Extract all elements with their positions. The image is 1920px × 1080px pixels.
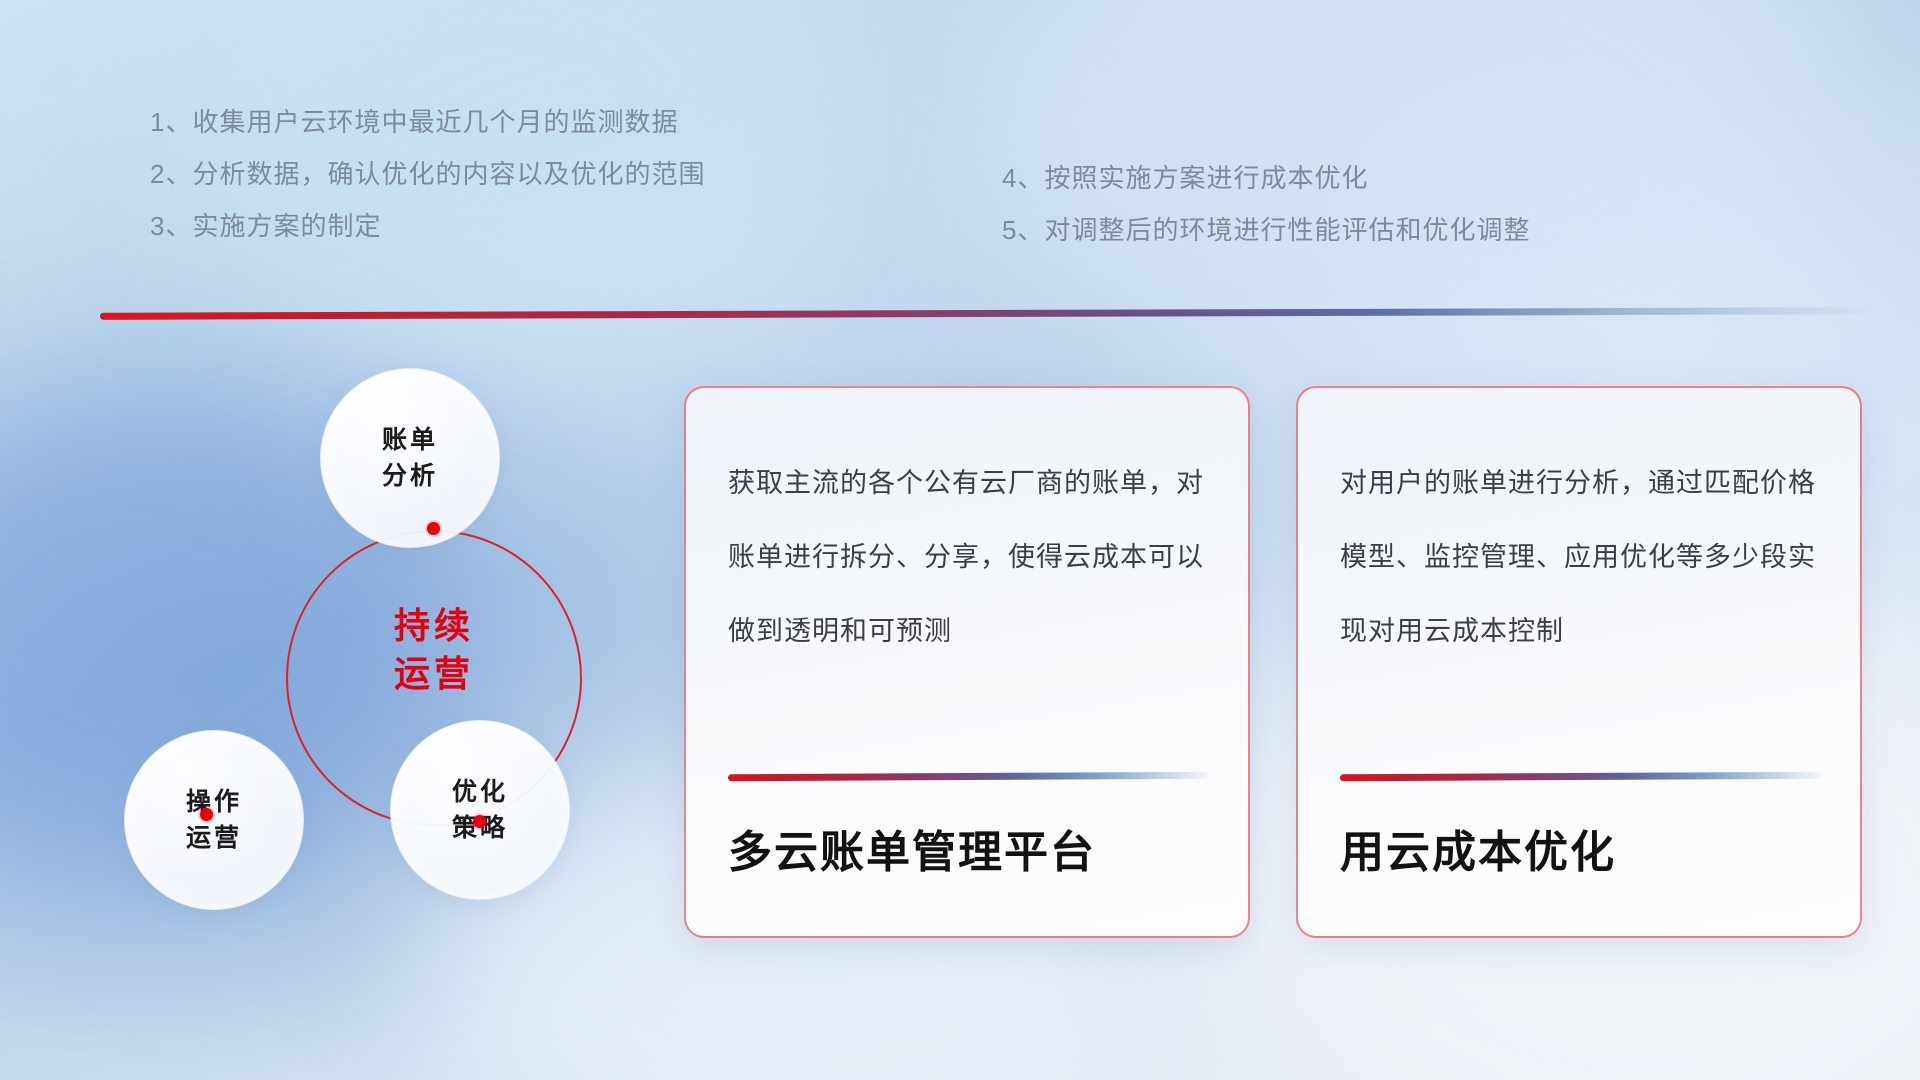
- feature-card-body: 对用户的账单进行分析，通过匹配价格模型、监控管理、应用优化等多少段实现对用云成本…: [1340, 446, 1818, 668]
- feature-card-body: 获取主流的各个公有云厂商的账单，对账单进行拆分、分享，使得云成本可以做到透明和可…: [728, 446, 1206, 668]
- feature-card-divider: [1340, 772, 1822, 782]
- venn-bubble-label-line1: 账单: [382, 422, 438, 458]
- slide-canvas: 1、收集用户云环境中最近几个月的监测数据 2、分析数据，确认优化的内容以及优化的…: [0, 0, 1920, 1080]
- step-item: 4、按照实施方案进行成本优化: [1002, 152, 1762, 204]
- feature-card-title: 用云成本优化: [1340, 816, 1616, 880]
- step-item: 1、收集用户云环境中最近几个月的监测数据: [150, 96, 870, 148]
- venn-bubble-label-line1: 操作: [186, 784, 242, 820]
- venn-bubble-label-line2: 分析: [382, 458, 438, 494]
- venn-node-dot-left: [200, 808, 213, 821]
- steps-list-left: 1、收集用户云环境中最近几个月的监测数据 2、分析数据，确认优化的内容以及优化的…: [150, 96, 870, 252]
- header-divider: [100, 307, 1876, 320]
- feature-card-cost-optimization[interactable]: 对用户的账单进行分析，通过匹配价格模型、监控管理、应用优化等多少段实现对用云成本…: [1296, 386, 1862, 938]
- steps-list-right: 4、按照实施方案进行成本优化 5、对调整后的环境进行性能评估和优化调整: [1002, 152, 1762, 256]
- venn-bubble-optimization-strategy[interactable]: 优化 策略: [390, 720, 570, 900]
- venn-bubble-label-line1: 优化: [452, 774, 508, 810]
- step-item: 2、分析数据，确认优化的内容以及优化的范围: [150, 148, 870, 200]
- step-item: 3、实施方案的制定: [150, 200, 870, 252]
- venn-diagram: 持续 运营 账单 分析 操作 运营 优化 策略: [100, 350, 640, 950]
- feature-card-divider: [728, 772, 1210, 782]
- feature-card-multicloud-billing[interactable]: 获取主流的各个公有云厂商的账单，对账单进行拆分、分享，使得云成本可以做到透明和可…: [684, 386, 1250, 938]
- venn-center-label-line2: 运营: [306, 650, 562, 698]
- venn-center-label-line1: 持续: [306, 602, 562, 650]
- venn-bubble-label-line2: 运营: [186, 820, 242, 856]
- venn-center-label: 持续 运营: [306, 602, 562, 698]
- feature-card-title: 多云账单管理平台: [728, 816, 1096, 880]
- venn-bubble-billing-analysis[interactable]: 账单 分析: [320, 368, 500, 548]
- venn-bubble-operations[interactable]: 操作 运营: [124, 730, 304, 910]
- venn-node-dot-top: [427, 522, 440, 535]
- venn-node-dot-right: [473, 815, 486, 828]
- step-item: 5、对调整后的环境进行性能评估和优化调整: [1002, 204, 1762, 256]
